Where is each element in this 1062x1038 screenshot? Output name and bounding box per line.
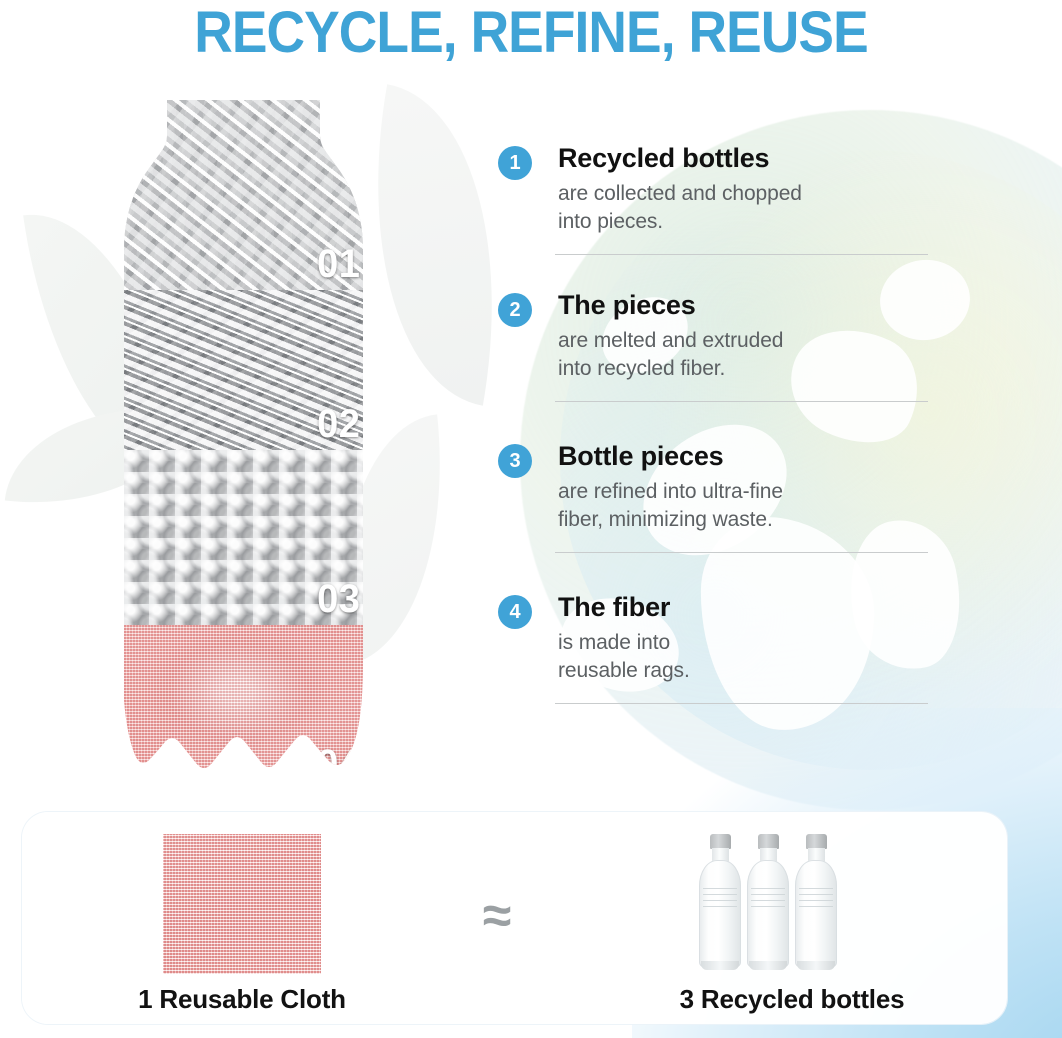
segment-number-label: 01 [317,244,360,284]
step-item-3: 3 Bottle pieces are refined into ultra-f… [498,412,928,561]
step-body-1: are collected and chopped into pieces. [558,180,802,236]
step-heading-2: The pieces [558,289,783,321]
bottle-ribs [751,888,785,910]
bottle-body [747,860,789,968]
mini-bottle [794,834,838,970]
bottle-segment-02: 02 [123,290,383,450]
cloth-swatch-image [163,834,321,974]
bottle-segment-04: 04 [123,625,383,790]
bottle-ribs [703,888,737,910]
cloth-label: 1 Reusable Cloth [57,984,427,1015]
bottle-segment-01: 01 [123,100,383,290]
step-body-2: are melted and extruded into recycled fi… [558,327,783,383]
mini-bottle [698,834,742,970]
bottle-ribs [799,888,833,910]
approximately-equal-icon: ≈ [462,890,532,942]
step-item-2: 2 The pieces are melted and extruded int… [498,263,928,412]
step-item-4: 4 The fiber is made into reusable rags. [498,561,928,710]
bottle-cap [710,834,731,849]
segment-number-label: 02 [317,404,360,444]
step-heading-3: Bottle pieces [558,440,783,472]
mini-bottle [746,834,790,970]
steps-list: 1 Recycled bottles are collected and cho… [498,142,928,710]
step-divider [555,703,928,704]
page-title: RECYCLE, REFINE, REUSE [42,2,1019,64]
step-body-4: is made into reusable rags. [558,629,690,685]
step-number-badge-1: 1 [498,146,532,180]
step-number-badge-4: 4 [498,595,532,629]
bottle-segment-03: 03 [123,450,383,625]
step-heading-1: Recycled bottles [558,142,802,174]
comparison-card: 1 Reusable Cloth ≈ [22,812,1007,1024]
step-divider [555,254,928,255]
bottle-base [701,961,739,970]
bottle-diagram: 01 02 03 04 [123,100,383,790]
bottle-base [797,961,835,970]
step-number-badge-3: 3 [498,444,532,478]
bottles-label: 3 Recycled bottles [592,984,992,1015]
bottle-base [749,961,787,970]
step-heading-4: The fiber [558,591,690,623]
bottle-cap [806,834,827,849]
step-body-3: are refined into ultra-fine fiber, minim… [558,478,783,534]
segment-number-label: 04 [317,744,360,784]
infographic-canvas: RECYCLE, REFINE, REUSE 01 02 03 04 1 Rec… [0,0,1062,1038]
bottle-cap [758,834,779,849]
step-number-badge-2: 2 [498,293,532,327]
step-divider [555,552,928,553]
step-item-1: 1 Recycled bottles are collected and cho… [498,142,928,263]
bottle-body [699,860,741,968]
recycled-bottles-image [698,826,878,976]
segment-number-label: 03 [317,579,360,619]
step-divider [555,401,928,402]
bottle-body [795,860,837,968]
